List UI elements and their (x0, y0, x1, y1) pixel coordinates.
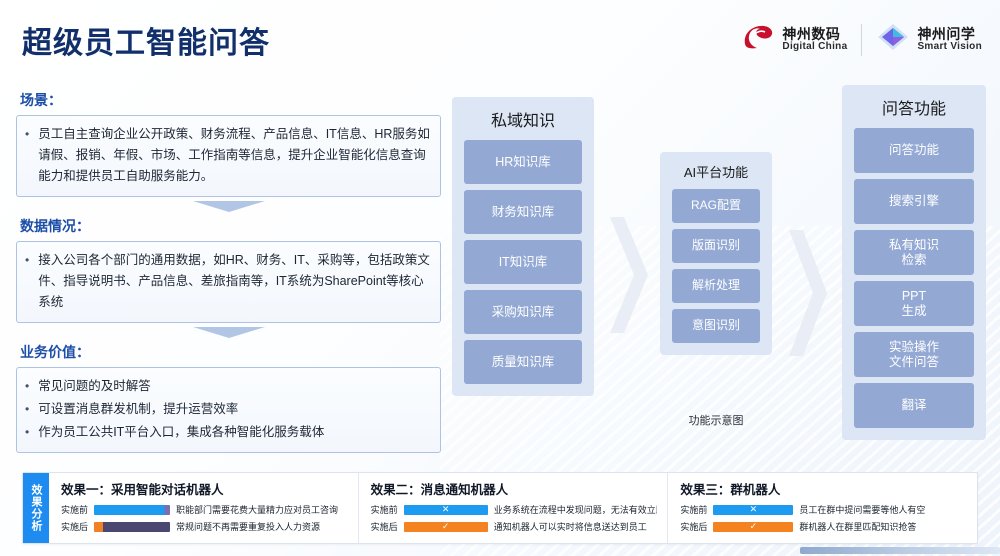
effect-panel-1-row-1-label: 实施前 (61, 503, 88, 516)
section-value-text-1: 常见问题的及时解答 (38, 376, 151, 397)
logo-divider (861, 24, 862, 56)
chip-private-knowledge-retrieval[interactable]: 私有知识检索 (854, 230, 974, 275)
effect-panel-2-title: 效果二：消息通知机器人 (371, 479, 658, 498)
effect-panel-2-row-2-desc: 通知机器人可以实时将信息送达到员工 (494, 520, 647, 533)
chip-rag-config[interactable]: RAG配置 (672, 189, 760, 223)
section-data-heading: 数据情况： (20, 216, 441, 236)
bullet-dot-icon: • (25, 250, 29, 270)
chip-qa-function[interactable]: 问答功能 (854, 128, 974, 173)
list-item: • 员工自主查询企业公开政策、财务流程、产品信息、IT信息、HR服务如请假、报销… (25, 124, 430, 187)
effect-panel-3: 效果三：群机器人 实施前 ✕ 员工在群中提问需要等他人有空 实施后 ✓ 群机器人… (667, 473, 977, 543)
table-row: 实施后 常规问题不再需要重复投入人力资源 (61, 520, 348, 533)
logo-digital-china-en: Digital China (782, 42, 847, 53)
effect-panel-2-row-1-label: 实施前 (371, 503, 398, 516)
section-scenario-heading: 场景： (20, 90, 441, 110)
panel-qa-functions-title: 问答功能 (882, 95, 946, 119)
logo-digital-china: 神州数码 Digital China (741, 23, 847, 56)
left-content-column: 场景： • 员工自主查询企业公开政策、财务流程、产品信息、IT信息、HR服务如请… (16, 90, 441, 453)
chip-hr-kb[interactable]: HR知识库 (464, 140, 582, 184)
list-item: • 作为员工公共IT平台入口，集成各种智能化服务载体 (25, 422, 430, 443)
effect-panel-1-title: 效果一：采用智能对话机器人 (61, 479, 348, 498)
effect-panel-2-row-2-bar: ✓ (404, 522, 488, 532)
panel-private-knowledge-title: 私域知识 (491, 107, 555, 131)
bullet-dot-icon: • (25, 399, 29, 419)
logo-smart-vision: 神州问学 Smart Vision (876, 22, 982, 57)
section-value-heading: 业务价值： (20, 342, 441, 362)
bullet-dot-icon: • (25, 376, 29, 396)
chip-layout-recognition[interactable]: 版面识别 (672, 229, 760, 263)
panel-ai-platform: AI平台功能 RAG配置 版面识别 解析处理 意图识别 (660, 152, 772, 355)
flow-down-arrow-icon (193, 201, 265, 212)
section-value: 业务价值： • 常见问题的及时解答 • 可设置消息群发机制，提升运营效率 • 作… (16, 342, 441, 453)
flow-chevron-right-icon-2 (783, 228, 827, 358)
diagram-caption: 功能示意图 (660, 412, 772, 428)
effect-panel-3-row-2-bar: ✓ (713, 522, 793, 532)
logo-group: 神州数码 Digital China 神州问学 Smart Vision (741, 22, 982, 57)
chip-search-engine[interactable]: 搜索引擎 (854, 179, 974, 224)
table-row: 实施前 ✕ 员工在群中提问需要等他人有空 (680, 503, 967, 516)
effect-panel-1-row-2-label: 实施后 (61, 520, 88, 533)
bullet-dot-icon: • (25, 124, 29, 144)
effect-panel-3-row-1-desc: 员工在群中提问需要等他人有空 (799, 503, 925, 516)
list-item: • 可设置消息群发机制，提升运营效率 (25, 399, 430, 420)
flow-chevron-right-icon-1 (604, 215, 648, 335)
section-value-text-2: 可设置消息群发机制，提升运营效率 (38, 399, 238, 420)
list-item: • 接入公司各个部门的通用数据，如HR、财务、IT、采购等，包括政策文件、指导说… (25, 250, 430, 313)
effect-panel-1: 效果一：采用智能对话机器人 实施前 职能部门需要花费大量精力应对员工咨询 实施后… (49, 473, 358, 543)
effect-panel-3-row-2-desc: 群机器人在群里匹配知识抢答 (799, 520, 916, 533)
table-row: 实施后 ✓ 群机器人在群里匹配知识抢答 (680, 520, 967, 533)
chip-translation[interactable]: 翻译 (854, 383, 974, 428)
chip-ppt-generation[interactable]: PPT生成 (854, 281, 974, 326)
effect-panel-2-row-1-bar: ✕ (404, 505, 488, 515)
section-scenario-text: 员工自主查询企业公开政策、财务流程、产品信息、IT信息、HR服务如请假、报销、年… (38, 124, 430, 187)
effect-panel-3-title: 效果三：群机器人 (680, 479, 967, 498)
section-scenario: 场景： • 员工自主查询企业公开政策、财务流程、产品信息、IT信息、HR服务如请… (16, 90, 441, 197)
cross-icon: ✕ (442, 505, 450, 514)
effect-panel-1-row-2-bar (94, 522, 170, 532)
chip-finance-kb[interactable]: 财务知识库 (464, 190, 582, 234)
chip-lab-operation-file-qa[interactable]: 实验操作文件问答 (854, 332, 974, 377)
effect-analysis-strip: 效果分析 效果一：采用智能对话机器人 实施前 职能部门需要花费大量精力应对员工咨… (22, 472, 978, 544)
effect-panel-3-row-1-bar: ✕ (713, 505, 793, 515)
effect-panel-1-row-1-bar (94, 505, 170, 515)
panel-private-knowledge: 私域知识 HR知识库 财务知识库 IT知识库 采购知识库 质量知识库 (452, 97, 594, 396)
table-row: 实施后 ✓ 通知机器人可以实时将信息送达到员工 (371, 520, 658, 533)
bullet-dot-icon: • (25, 422, 29, 442)
table-row: 实施前 职能部门需要花费大量精力应对员工咨询 (61, 503, 348, 516)
effect-panel-3-row-2-label: 实施后 (680, 520, 707, 533)
list-item: • 常见问题的及时解答 (25, 376, 430, 397)
flow-down-arrow-icon (193, 327, 265, 338)
check-icon: ✓ (750, 522, 758, 531)
chip-parse-processing[interactable]: 解析处理 (672, 269, 760, 303)
effect-panel-2-row-2-label: 实施后 (371, 520, 398, 533)
section-value-box: • 常见问题的及时解答 • 可设置消息群发机制，提升运营效率 • 作为员工公共I… (16, 367, 441, 453)
check-icon: ✓ (442, 522, 450, 531)
table-row: 实施前 ✕ 业务系统在流程中发现问题，无法有效立即通知员工 (371, 503, 658, 516)
logo-smart-vision-en: Smart Vision (917, 42, 982, 53)
chip-intent-recognition[interactable]: 意图识别 (672, 309, 760, 343)
section-scenario-box: • 员工自主查询企业公开政策、财务流程、产品信息、IT信息、HR服务如请假、报销… (16, 115, 441, 197)
page-title: 超级员工智能问答 (22, 18, 270, 62)
effect-analysis-tab-label: 效果分析 (30, 484, 42, 532)
logo-digital-china-cn: 神州数码 (782, 27, 847, 42)
section-data-text: 接入公司各个部门的通用数据，如HR、财务、IT、采购等，包括政策文件、指导说明书… (38, 250, 430, 313)
chip-quality-kb[interactable]: 质量知识库 (464, 340, 582, 384)
effect-analysis-tab: 效果分析 (23, 473, 49, 543)
chip-procurement-kb[interactable]: 采购知识库 (464, 290, 582, 334)
effect-panel-2: 效果二：消息通知机器人 实施前 ✕ 业务系统在流程中发现问题，无法有效立即通知员… (358, 473, 668, 543)
section-value-text-3: 作为员工公共IT平台入口，集成各种智能化服务载体 (38, 422, 324, 443)
logo-smart-vision-cn: 神州问学 (917, 27, 982, 42)
panel-ai-platform-title: AI平台功能 (684, 162, 748, 181)
panel-qa-functions: 问答功能 问答功能 搜索引擎 私有知识检索 PPT生成 实验操作文件问答 翻译 (842, 85, 986, 440)
chip-it-kb[interactable]: IT知识库 (464, 240, 582, 284)
section-data-box: • 接入公司各个部门的通用数据，如HR、财务、IT、采购等，包括政策文件、指导说… (16, 241, 441, 323)
cross-icon: ✕ (750, 505, 758, 514)
bottom-accent-bar (800, 547, 1000, 554)
effect-panel-1-row-2-desc: 常规问题不再需要重复投入人力资源 (176, 520, 320, 533)
section-data: 数据情况： • 接入公司各个部门的通用数据，如HR、财务、IT、采购等，包括政策… (16, 216, 441, 323)
effect-panel-2-row-1-desc: 业务系统在流程中发现问题，无法有效立即通知员工 (494, 503, 658, 516)
smart-vision-diamond-icon (876, 22, 910, 57)
effect-panel-1-row-1-desc: 职能部门需要花费大量精力应对员工咨询 (176, 503, 338, 516)
digital-china-swirl-icon (741, 23, 775, 56)
effect-panel-3-row-1-label: 实施前 (680, 503, 707, 516)
